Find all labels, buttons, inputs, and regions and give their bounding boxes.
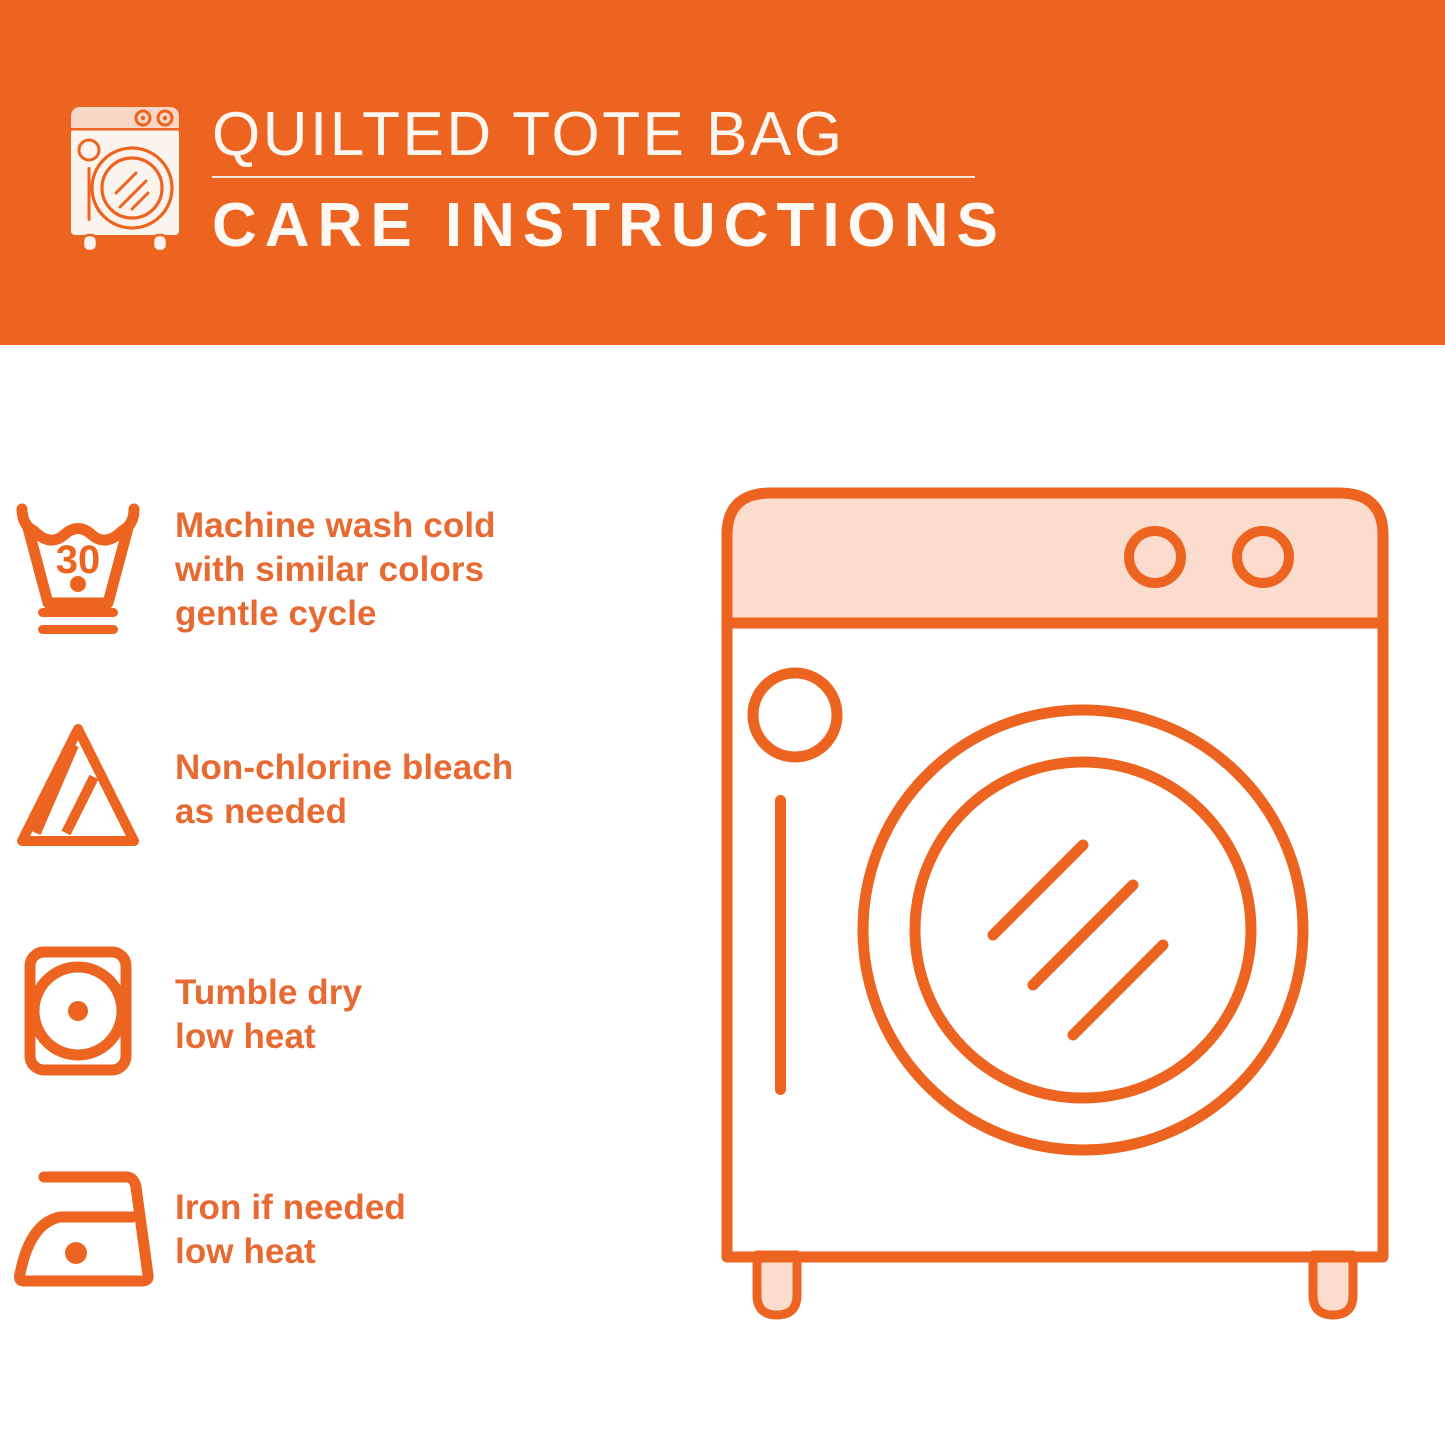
care-row-iron: Iron if needed low heat: [0, 1155, 700, 1305]
front-load-washing-machine-illustration: [715, 475, 1395, 1365]
iron-low-heat-icon: [0, 1155, 175, 1305]
care-row-tumble-dry: Tumble dry low heat: [0, 940, 700, 1090]
washing-machine-icon: [62, 103, 188, 253]
page-subtitle: CARE INSTRUCTIONS: [212, 190, 1012, 262]
header-banner: QUILTED TOTE BAG CARE INSTRUCTIONS: [0, 0, 1445, 345]
care-text-tumble-dry: Tumble dry low heat: [175, 971, 362, 1059]
leg-left: [757, 1255, 797, 1315]
care-row-bleach: Non-chlorine bleach as needed: [0, 715, 700, 865]
care-instructions-infographic: QUILTED TOTE BAG CARE INSTRUCTIONS 30: [0, 0, 1445, 1445]
care-line: Non-chlorine bleach: [175, 746, 513, 790]
care-text-machine-wash: Machine wash cold with similar colors ge…: [175, 504, 496, 636]
care-symbol-list: 30 Machine wash cold with similar colors…: [0, 345, 700, 1445]
care-row-machine-wash: 30 Machine wash cold with similar colors…: [0, 495, 700, 645]
non-chlorine-bleach-triangle-icon: [0, 715, 175, 865]
care-text-bleach: Non-chlorine bleach as needed: [175, 746, 513, 834]
care-line: with similar colors: [175, 548, 496, 592]
title-divider: [212, 176, 975, 178]
care-line: Iron if needed: [175, 1186, 406, 1230]
leg-right: [1313, 1255, 1353, 1315]
care-line: low heat: [175, 1015, 362, 1059]
wash-tub-30-gentle-icon: 30: [0, 495, 175, 645]
header-text-block: QUILTED TOTE BAG CARE INSTRUCTIONS: [212, 100, 1012, 262]
svg-text:30: 30: [55, 538, 100, 582]
care-line: Tumble dry: [175, 971, 362, 1015]
page-title: QUILTED TOTE BAG: [212, 100, 1012, 170]
care-line: as needed: [175, 790, 513, 834]
care-line: gentle cycle: [175, 592, 496, 636]
care-line: Machine wash cold: [175, 504, 496, 548]
care-line: low heat: [175, 1230, 406, 1274]
care-text-iron: Iron if needed low heat: [175, 1186, 406, 1274]
tumble-dry-low-heat-icon: [0, 940, 175, 1090]
